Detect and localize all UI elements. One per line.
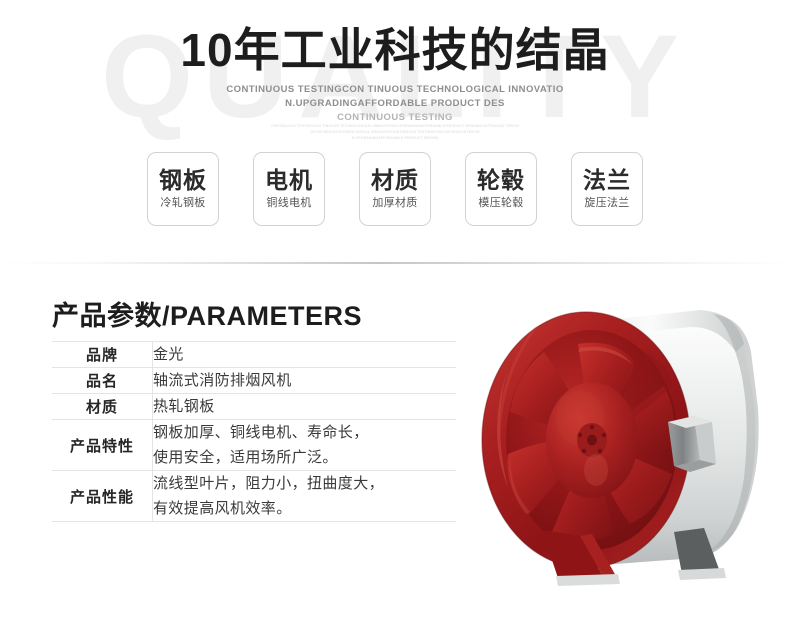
parameter-value: 热轧钢板 [153,394,457,420]
parameter-value: 钢板加厚、铜线电机、寿命长， 使用安全，适用场所广泛。 [153,420,457,471]
table-row: 产品特性 钢板加厚、铜线电机、寿命长， 使用安全，适用场所广泛。 [52,420,456,471]
feature-card-title: 材质 [371,167,419,194]
table-row: 品牌 金光 [52,342,456,368]
hero-subtitle-line-2: N.UPGRADINGAFFORDABLE PRODUCT DES [0,98,790,109]
hero-microtext-line-1: CONTINUOUS TESTINGCON TINUOUS TECHNOLOGI… [0,124,790,128]
parameter-value: 轴流式消防排烟风机 [153,368,457,394]
feature-card-subtitle: 冷轧钢板 [160,196,205,211]
feature-card-subtitle: 模压轮毂 [478,196,523,211]
parameter-key: 品名 [52,368,153,394]
feature-card[interactable]: 材质 加厚材质 [359,152,431,226]
hero-microtext-line-3: N.UPGRADINGAFFORDABLE PRODUCT DESIGN [0,136,790,140]
feature-card-title: 钢板 [159,167,207,194]
product-image [468,282,790,592]
axial-fan-illustration [468,282,790,592]
parameter-value-line: 热轧钢板 [153,394,456,419]
fan-hub [546,382,638,498]
parameter-value-line: 流线型叶片，阻力小，扭曲度大， [153,471,456,496]
feature-card-list: 钢板 冷轧钢板 电机 铜线电机 材质 加厚材质 轮毂 模压轮毂 法兰 旋压法兰 [0,152,790,226]
feature-card[interactable]: 电机 铜线电机 [253,152,325,226]
feature-card-subtitle: 旋压法兰 [584,196,629,211]
table-row: 产品性能 流线型叶片，阻力小，扭曲度大， 有效提高风机效率。 [52,471,456,522]
parameter-value-line: 轴流式消防排烟风机 [153,368,456,393]
feature-card-title: 法兰 [583,167,631,194]
parameter-key: 产品性能 [52,471,153,522]
parameter-value-line: 金光 [153,342,456,367]
feature-card[interactable]: 钢板 冷轧钢板 [147,152,219,226]
parameters-title: 产品参数/PARAMETERS [52,300,362,332]
parameter-value: 金光 [153,342,457,368]
feature-card-title: 电机 [265,167,313,194]
section-divider [0,262,790,264]
feature-card-subtitle: 铜线电机 [266,196,311,211]
parameter-value-line: 有效提高风机效率。 [153,496,456,521]
parameter-key: 品牌 [52,342,153,368]
feature-card[interactable]: 轮毂 模压轮毂 [465,152,537,226]
parameter-value: 流线型叶片，阻力小，扭曲度大， 有效提高风机效率。 [153,471,457,522]
fan-junction-box[interactable] [668,416,716,472]
hero-title: 10年工业科技的结晶 [0,24,790,76]
hero-subtitle-line-3: CONTINUOUS TESTING [0,112,790,123]
product-detail-page: QUALITY 10年工业科技的结晶 CONTINUOUS TESTINGCON… [0,0,790,621]
hero-section: QUALITY 10年工业科技的结晶 CONTINUOUS TESTINGCON… [0,0,790,240]
parameters-table: 品牌 金光 品名 轴流式消防排烟风机 材质 热轧钢板 产品特性 [52,341,456,522]
parameter-key: 产品特性 [52,420,153,471]
feature-card[interactable]: 法兰 旋压法兰 [571,152,643,226]
parameter-value-line: 钢板加厚、铜线电机、寿命长， [153,420,456,445]
hero-subtitle-line-1: CONTINUOUS TESTINGCON TINUOUS TECHNOLOGI… [0,84,790,95]
table-row: 品名 轴流式消防排烟风机 [52,368,456,394]
hero-microtext-line-2: GCONTINUOUSTECHNOLOGICAL INNOVATIOCONTIN… [0,130,790,134]
feature-card-subtitle: 加厚材质 [372,196,417,211]
feature-card-title: 轮毂 [477,167,525,194]
table-row: 材质 热轧钢板 [52,394,456,420]
parameter-value-line: 使用安全，适用场所广泛。 [153,445,456,470]
parameter-key: 材质 [52,394,153,420]
